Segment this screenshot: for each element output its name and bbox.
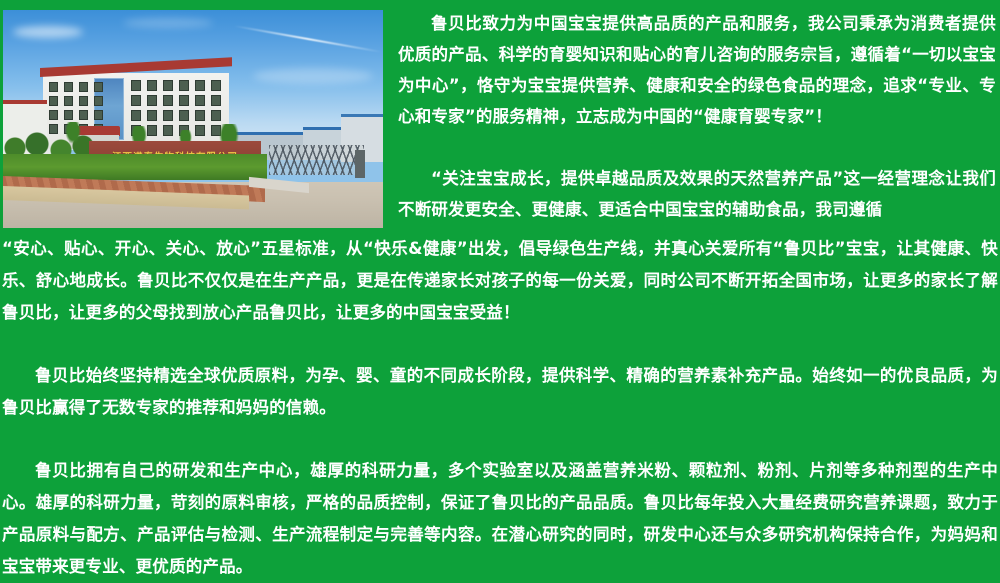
tree <box>65 122 81 144</box>
lawn <box>3 154 267 180</box>
photo-canvas: 江西诺泰生物科技有限公司 <box>3 10 383 228</box>
company-introduction-page: 江西诺泰生物科技有限公司 鲁贝比致力为中国宝宝提供高品质的产品和服务，我公司秉承… <box>0 0 1000 545</box>
cloud-shape <box>13 26 83 38</box>
intro-paragraph-2: “关注宝宝成长，提供卓越品质及效果的天然营养产品”这一经营理念让我们不断研发更安… <box>398 163 996 225</box>
cloud-shape <box>123 18 213 28</box>
factory-exterior-photo: 江西诺泰生物科技有限公司 <box>3 10 383 228</box>
body-paragraph-1: “安心、贴心、开心、关心、放心”五星标准，从“快乐&健康”出发，倡导绿色生产线，… <box>2 233 998 329</box>
intro-text-column: 鲁贝比致力为中国宝宝提供高品质的产品和服务，我公司秉承为消费者提供优质的产品、科… <box>398 8 996 225</box>
gate-post <box>355 150 365 178</box>
intro-paragraph-1: 鲁贝比致力为中国宝宝提供高品质的产品和服务，我公司秉承为消费者提供优质的产品、科… <box>398 8 996 132</box>
retractable-gate <box>269 145 364 175</box>
body-paragraph-3: 鲁贝比拥有自己的研发和生产中心，雄厚的科研力量，多个实验室以及涵盖营养米粉、颗粒… <box>2 455 998 583</box>
cloud-shape <box>253 68 373 84</box>
body-text-column: “安心、贴心、开心、关心、放心”五星标准，从“快乐&健康”出发，倡导绿色生产线，… <box>2 233 998 583</box>
body-paragraph-2: 鲁贝比始终坚持精选全球优质原料，为孕、婴、童的不同成长阶段，提供科学、精确的营养… <box>2 360 998 424</box>
